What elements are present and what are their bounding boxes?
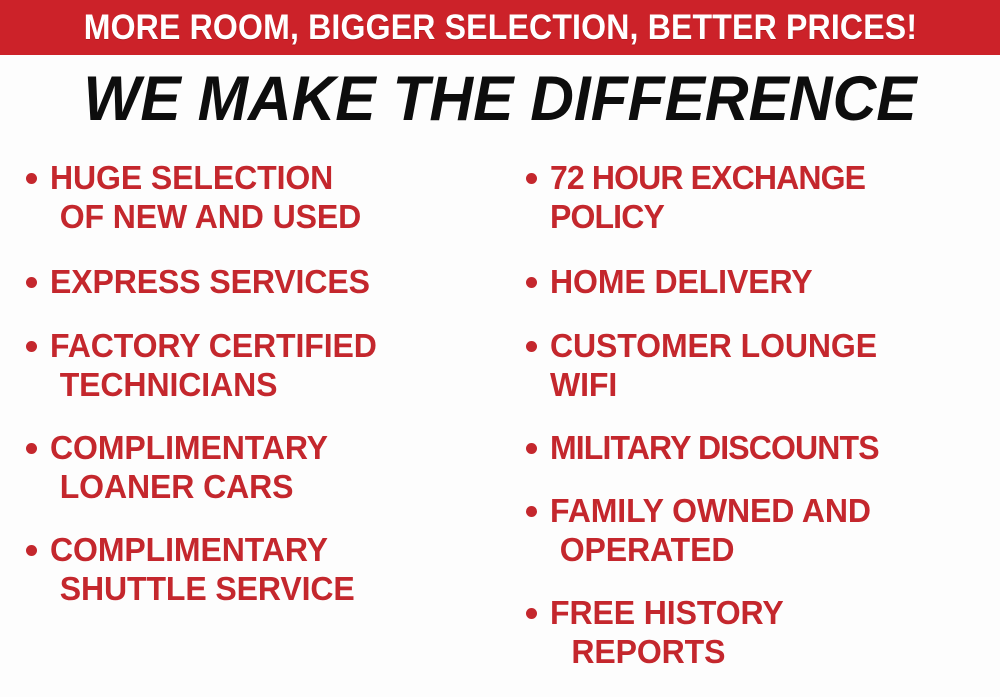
list-item: CUSTOMER LOUNGE WIFI	[522, 326, 1000, 404]
list-item-line-1: HOME DELIVERY	[550, 262, 987, 301]
page-title: WE MAKE THE DIFFERENCE	[20, 64, 980, 134]
bullet-dot-icon	[526, 341, 537, 352]
list-item: FACTORY CERTIFIED TECHNICIANS	[22, 326, 494, 404]
list-item-line-1: HUGE SELECTION	[50, 158, 481, 197]
list-item-line-2: OPERATED	[550, 530, 987, 569]
list-item-line-1: CUSTOMER LOUNGE	[550, 326, 987, 365]
bullet-dot-icon	[526, 277, 537, 288]
list-item-line-1: MILITARY DISCOUNTS	[550, 428, 987, 467]
list-item-line-1: 72 HOUR EXCHANGE	[550, 158, 987, 197]
list-item: EXPRESS SERVICES	[22, 262, 494, 301]
features-column-left: HUGE SELECTION OF NEW AND USED EXPRESS S…	[22, 158, 494, 634]
list-item-line-1: FAMILY OWNED AND	[550, 491, 987, 530]
bullet-dot-icon	[26, 277, 37, 288]
top-banner: MORE ROOM, BIGGER SELECTION, BETTER PRIC…	[0, 0, 1000, 55]
features-column-right: 72 HOUR EXCHANGE POLICY HOME DELIVERY CU…	[522, 158, 1000, 697]
bullet-dot-icon	[526, 506, 537, 517]
list-item: MILITARY DISCOUNTS	[522, 428, 1000, 467]
bullet-dot-icon	[26, 341, 37, 352]
promo-poster: MORE ROOM, BIGGER SELECTION, BETTER PRIC…	[0, 0, 1000, 694]
bullet-dot-icon	[526, 173, 537, 184]
list-item: COMPLIMENTARY LOANER CARS	[22, 428, 494, 506]
bullet-dot-icon	[26, 443, 37, 454]
bullet-dot-icon	[26, 173, 37, 184]
bullet-dot-icon	[26, 545, 37, 556]
list-item-line-2: REPORTS	[550, 632, 987, 671]
list-item-line-1: COMPLIMENTARY	[50, 530, 481, 569]
banner-headline-text: MORE ROOM, BIGGER SELECTION, BETTER PRIC…	[83, 10, 916, 45]
bullet-dot-icon	[526, 443, 537, 454]
list-item-line-2: OF NEW AND USED	[50, 197, 481, 236]
list-item-line-2: LOANER CARS	[50, 467, 481, 506]
features-columns: HUGE SELECTION OF NEW AND USED EXPRESS S…	[0, 158, 1000, 694]
list-item: HOME DELIVERY	[522, 262, 1000, 301]
list-item: COMPLIMENTARY SHUTTLE SERVICE	[22, 530, 494, 608]
list-item: FAMILY OWNED AND OPERATED	[522, 491, 1000, 569]
list-item: HUGE SELECTION OF NEW AND USED	[22, 158, 494, 236]
list-item: 72 HOUR EXCHANGE POLICY	[522, 158, 1000, 236]
bullet-dot-icon	[526, 608, 537, 619]
list-item-line-2: TECHNICIANS	[50, 365, 481, 404]
list-item: FREE HISTORY REPORTS	[522, 593, 1000, 671]
list-item-line-1: FACTORY CERTIFIED	[50, 326, 481, 365]
list-item-line-1: FREE HISTORY	[550, 593, 987, 632]
list-item-line-1: COMPLIMENTARY	[50, 428, 481, 467]
list-item-line-2: SHUTTLE SERVICE	[50, 569, 481, 608]
list-item-line-2: WIFI	[550, 365, 987, 404]
list-item-line-2: POLICY	[550, 197, 987, 236]
list-item-line-1: EXPRESS SERVICES	[50, 262, 481, 301]
